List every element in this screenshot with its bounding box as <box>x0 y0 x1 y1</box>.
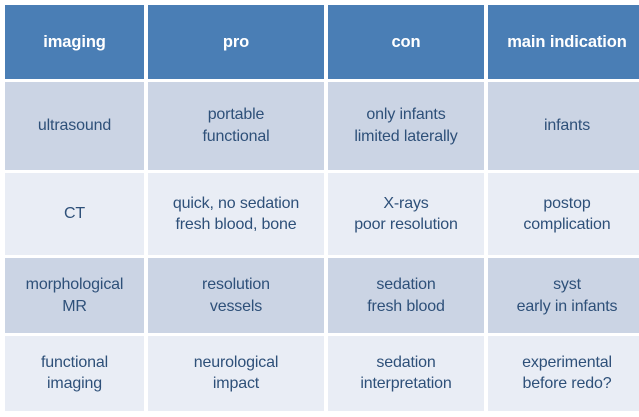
cell-line: fresh blood <box>331 296 481 318</box>
cell-line: X-rays <box>331 193 481 215</box>
cell-line: portable <box>151 104 321 126</box>
cell-pro: quick, no sedation fresh blood, bone <box>148 173 324 256</box>
cell-line: CT <box>8 203 141 225</box>
column-header-pro: pro <box>148 5 324 79</box>
cell-con: sedation interpretation <box>328 336 484 411</box>
cell-line: ultrasound <box>8 115 141 137</box>
cell-line: sedation <box>331 274 481 296</box>
cell-pro: neurological impact <box>148 336 324 411</box>
cell-line: MR <box>8 296 141 318</box>
cell-line: neurological <box>151 352 321 374</box>
column-header-imaging: imaging <box>5 5 144 79</box>
table-header-row: imaging pro con main indication <box>5 5 639 79</box>
cell-imaging: ultrasound <box>5 82 144 170</box>
cell-pro: portable functional <box>148 82 324 170</box>
cell-imaging: morphological MR <box>5 258 144 332</box>
table-row: morphological MR resolution vessels seda… <box>5 258 639 332</box>
cell-line: imaging <box>8 373 141 395</box>
cell-line: only infants <box>331 104 481 126</box>
cell-con: only infants limited laterally <box>328 82 484 170</box>
comparison-table-container: imaging pro con main indication ultrasou… <box>5 5 634 411</box>
table-header: imaging pro con main indication <box>5 5 639 79</box>
column-header-con: con <box>328 5 484 79</box>
cell-pro: resolution vessels <box>148 258 324 332</box>
cell-line: postop <box>491 193 639 215</box>
cell-line: morphological <box>8 274 141 296</box>
cell-line: functional <box>8 352 141 374</box>
cell-line: infants <box>491 115 639 137</box>
cell-line: vessels <box>151 296 321 318</box>
cell-main-indication: postop complication <box>488 173 639 256</box>
table-row: ultrasound portable functional only infa… <box>5 82 639 170</box>
cell-imaging: CT <box>5 173 144 256</box>
cell-line: interpretation <box>331 373 481 395</box>
cell-con: X-rays poor resolution <box>328 173 484 256</box>
cell-main-indication: infants <box>488 82 639 170</box>
cell-line: fresh blood, bone <box>151 214 321 236</box>
cell-line: syst <box>491 274 639 296</box>
cell-line: quick, no sedation <box>151 193 321 215</box>
cell-line: before redo? <box>491 373 639 395</box>
column-header-main-indication: main indication <box>488 5 639 79</box>
cell-line: resolution <box>151 274 321 296</box>
cell-line: experimental <box>491 352 639 374</box>
table-row: CT quick, no sedation fresh blood, bone … <box>5 173 639 256</box>
cell-imaging: functional imaging <box>5 336 144 411</box>
cell-con: sedation fresh blood <box>328 258 484 332</box>
cell-line: limited laterally <box>331 126 481 148</box>
cell-line: complication <box>491 214 639 236</box>
cell-main-indication: experimental before redo? <box>488 336 639 411</box>
imaging-comparison-table: imaging pro con main indication ultrasou… <box>1 2 639 414</box>
cell-line: sedation <box>331 352 481 374</box>
cell-line: early in infants <box>491 296 639 318</box>
cell-line: functional <box>151 126 321 148</box>
cell-line: impact <box>151 373 321 395</box>
table-body: ultrasound portable functional only infa… <box>5 82 639 411</box>
cell-line: poor resolution <box>331 214 481 236</box>
cell-main-indication: syst early in infants <box>488 258 639 332</box>
table-row: functional imaging neurological impact s… <box>5 336 639 411</box>
